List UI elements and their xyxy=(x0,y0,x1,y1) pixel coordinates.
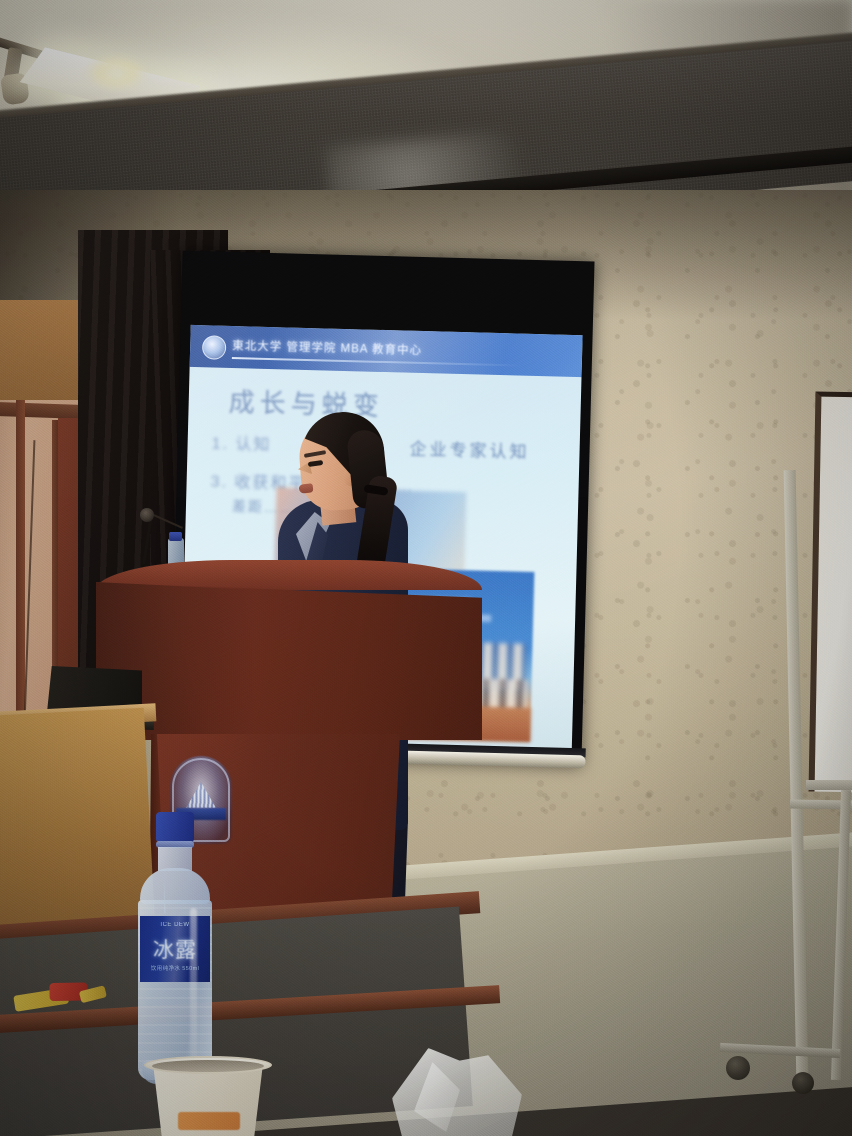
bottle-cap[interactable] xyxy=(156,812,194,842)
bottle-shoulder xyxy=(140,868,210,904)
slide-right-fragment: 企业专家认知 xyxy=(409,435,530,463)
bottle-label-sheen xyxy=(140,916,210,982)
whiteboard-bottom-frame xyxy=(806,780,852,790)
light-hotspot xyxy=(86,56,146,90)
mobile-whiteboard[interactable] xyxy=(809,392,852,793)
microphone-icon[interactable] xyxy=(140,508,154,522)
paper-cup-interior xyxy=(152,1060,264,1072)
speaker-mouth xyxy=(299,483,314,493)
lectern-bottle-cap xyxy=(169,532,182,541)
slide-bullet-1: 1. 认知 xyxy=(211,430,271,456)
paper-cup-logo xyxy=(178,1112,240,1130)
bottle-highlight xyxy=(190,908,197,1078)
lecture-hall-photo: 東北大学 管理学院 MBA 教育中心 成长与蜕变 1. 认知 3. 收获和平台、… xyxy=(0,0,852,1136)
water-bottle[interactable]: ICE DEW 冰露 饮用纯净水 550ml xyxy=(128,812,222,1080)
whiteboard-caster-wheel-left xyxy=(726,1056,750,1080)
whiteboard-caster-wheel-right xyxy=(792,1072,814,1094)
